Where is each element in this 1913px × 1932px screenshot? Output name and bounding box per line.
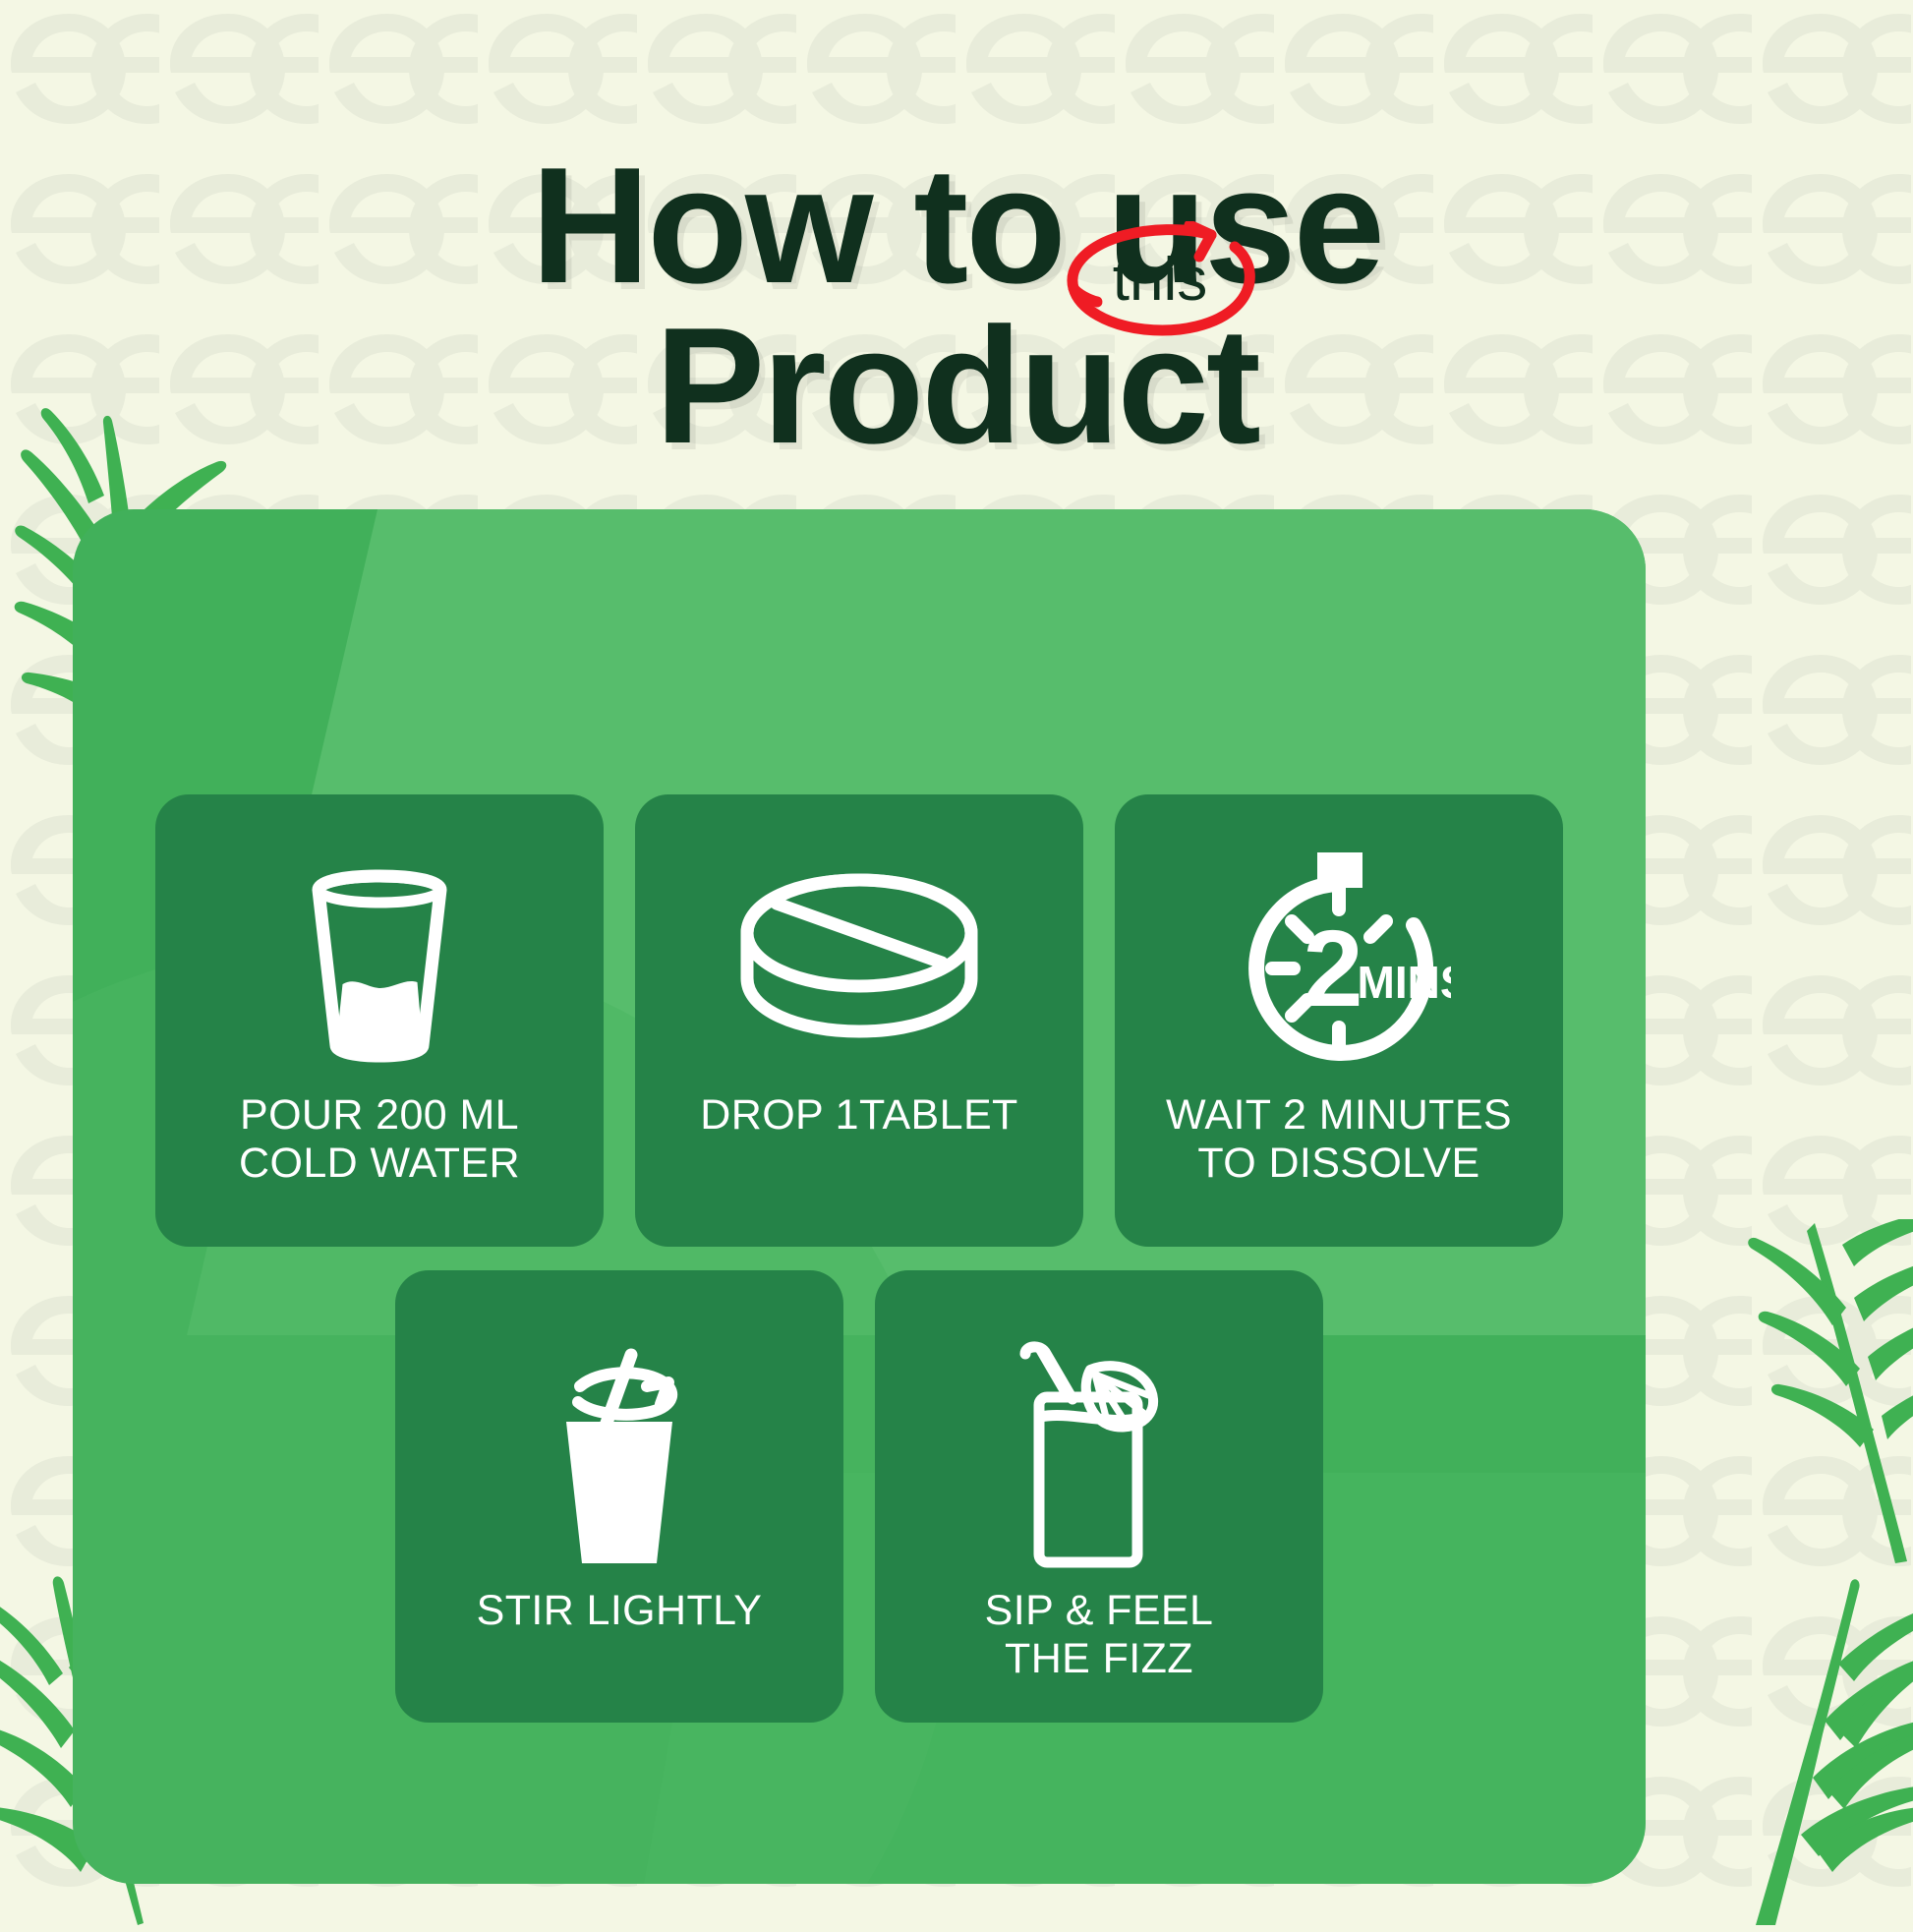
- step-tile-stir-lightly[interactable]: STIR LIGHTLY: [395, 1270, 843, 1723]
- page-title-line-2: Product: [0, 306, 1913, 466]
- steps-grid: POUR 200 ML COLD WATER DROP 1TABLET: [73, 509, 1646, 1884]
- water-glass-icon: [281, 846, 478, 1078]
- circled-annotation-label: this: [1042, 221, 1278, 339]
- step-label-pour-water: POUR 200 ML COLD WATER: [239, 1091, 520, 1187]
- steps-row-bottom: STIR LIGHTLY: [73, 1270, 1646, 1723]
- step-tile-drop-tablet[interactable]: DROP 1TABLET: [635, 794, 1083, 1247]
- step-label-drop-tablet: DROP 1TABLET: [700, 1091, 1017, 1140]
- drink-straw-lemon-icon: [996, 1333, 1202, 1565]
- stopwatch-unit: MINS: [1358, 957, 1452, 1008]
- stir-spoon-glass-icon: [521, 1333, 718, 1565]
- step-label-sip-fizz: SIP & FEEL THE FIZZ: [985, 1587, 1214, 1682]
- step-tile-pour-water[interactable]: POUR 200 ML COLD WATER: [155, 794, 604, 1247]
- page-title-line-2-wrapper: Product this: [0, 306, 1913, 466]
- steps-row-top: POUR 200 ML COLD WATER DROP 1TABLET: [73, 794, 1646, 1247]
- page-title-line-1: How to use: [0, 146, 1913, 306]
- tablet-icon: [731, 846, 987, 1078]
- stopwatch-number: 2: [1303, 908, 1362, 1029]
- circled-annotation: this: [1042, 221, 1278, 339]
- page-title: How to use Product this: [0, 146, 1913, 466]
- step-label-wait-dissolve: WAIT 2 MINUTES TO DISSOLVE: [1166, 1091, 1512, 1187]
- step-tile-sip-fizz[interactable]: SIP & FEEL THE FIZZ: [875, 1270, 1323, 1723]
- step-tile-wait-dissolve[interactable]: 2 MINS WAIT 2 MINUTES TO DISSOLVE: [1115, 794, 1563, 1247]
- stopwatch-icon: 2 MINS: [1227, 846, 1451, 1078]
- step-label-stir-lightly: STIR LIGHTLY: [477, 1587, 763, 1635]
